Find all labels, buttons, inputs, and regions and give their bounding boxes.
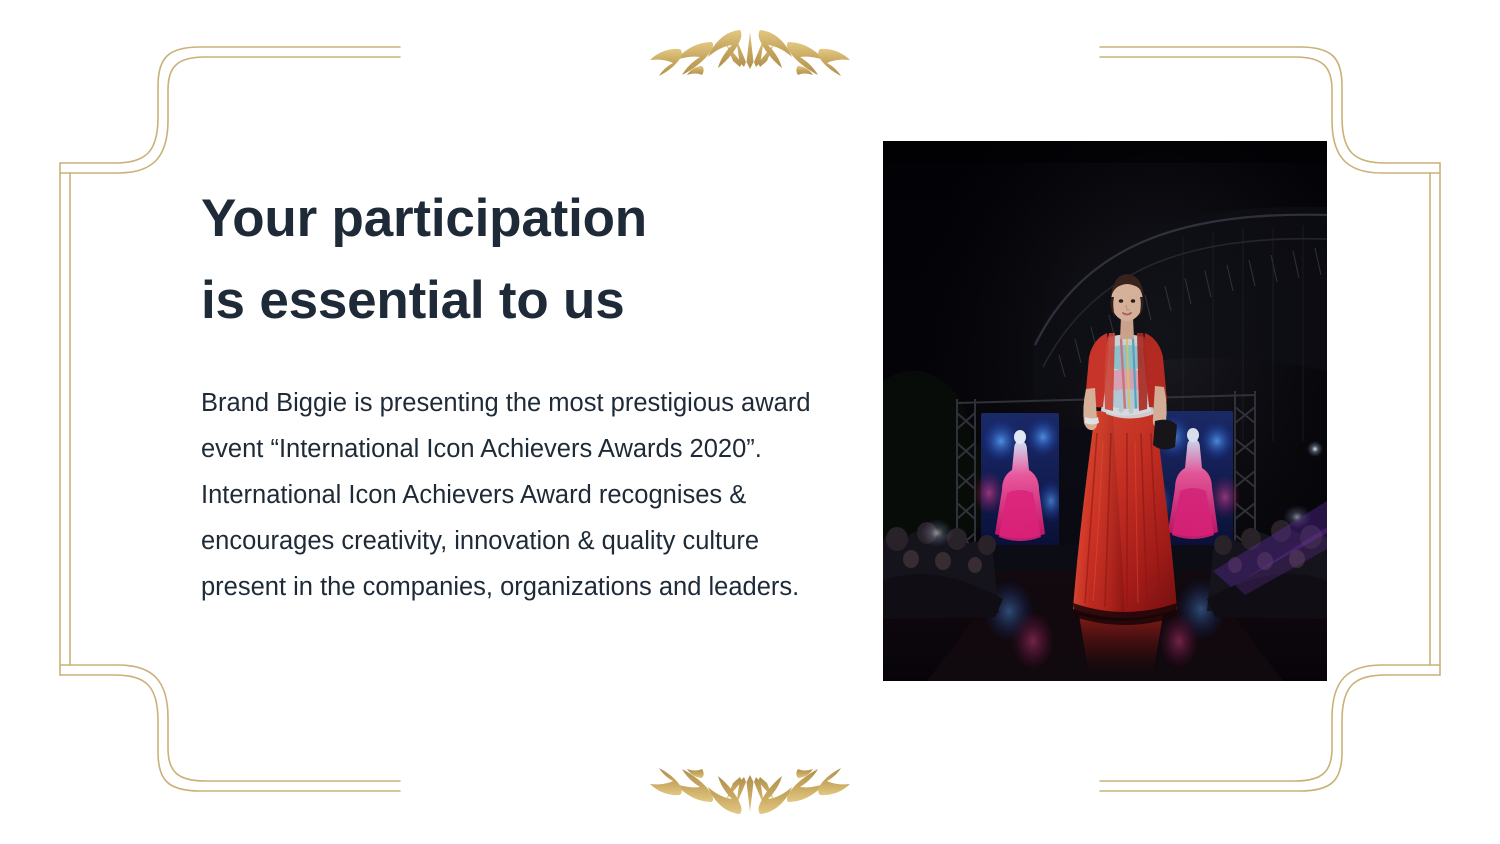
ornament-top-flourish-icon <box>640 22 860 78</box>
runway-photo-illustration <box>883 141 1327 681</box>
ornament-bottom-flourish-icon <box>640 766 860 822</box>
floral-flourish-icon <box>640 22 860 78</box>
floral-flourish-icon <box>640 766 860 822</box>
body-paragraph: Brand Biggie is presenting the most pres… <box>201 342 821 610</box>
runway-photo <box>883 141 1327 681</box>
text-column: Your participation is essential to us Br… <box>201 178 821 610</box>
page-title: Your participation is essential to us <box>201 178 821 342</box>
slide-canvas: Your participation is essential to us Br… <box>0 0 1500 844</box>
